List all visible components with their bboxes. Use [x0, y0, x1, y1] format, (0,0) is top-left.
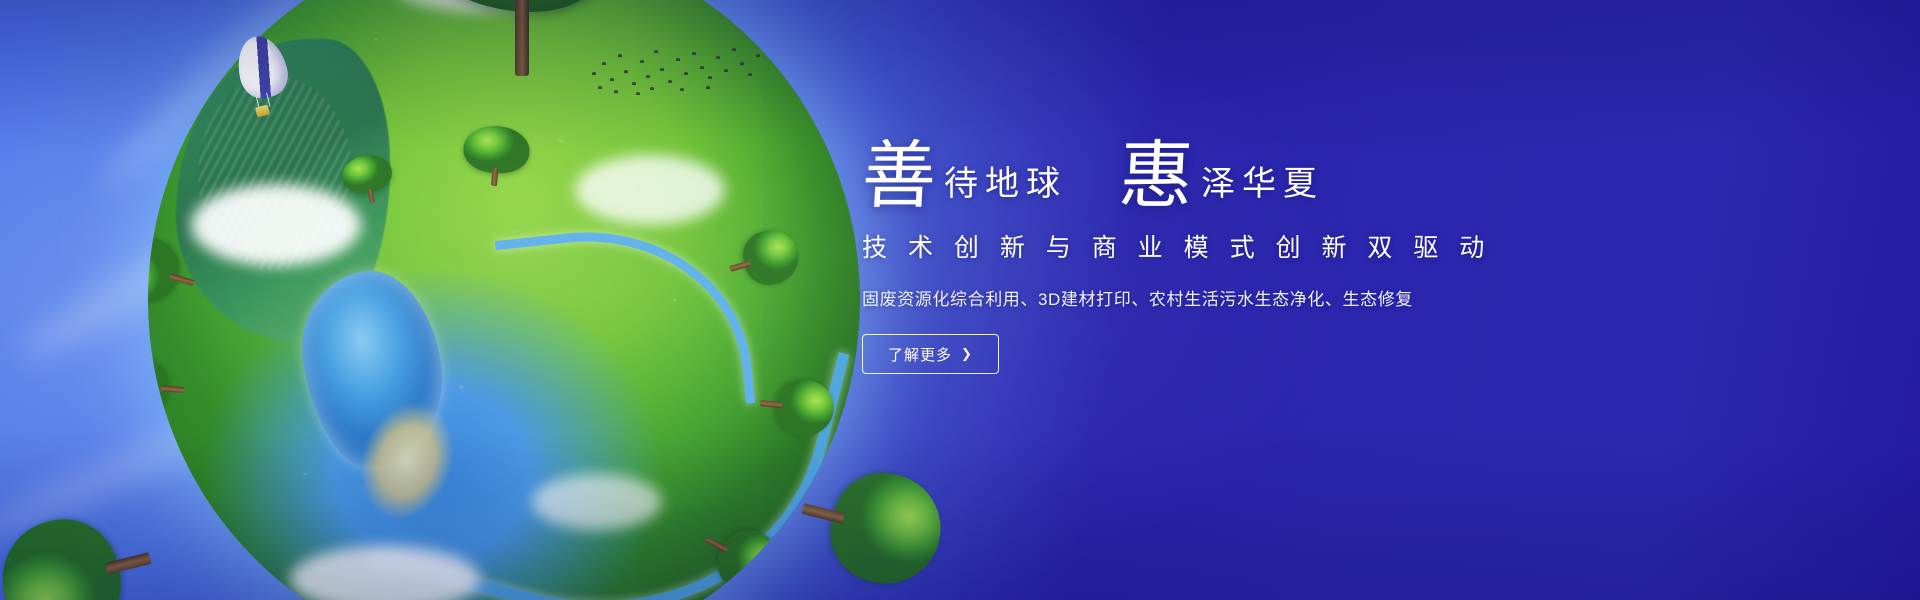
title-rest-chars-1: 待地球: [944, 167, 1067, 210]
title-phrase-1: 善 待地球: [862, 142, 1067, 210]
hero-description: 固废资源化综合利用、3D建材打印、农村生活污水生态净化、生态修复: [862, 285, 1502, 310]
hero-banner: 善 待地球 惠 泽华夏 技 术 创 新 与 商 业 模 式 创 新 双 驱 动 …: [0, 0, 1920, 600]
hero-content: 善 待地球 惠 泽华夏 技 术 创 新 与 商 业 模 式 创 新 双 驱 动 …: [862, 120, 1502, 374]
chevron-right-icon: ❯: [961, 346, 973, 362]
page-title: 善 待地球 惠 泽华夏: [862, 120, 1502, 210]
learn-more-label: 了解更多: [888, 344, 952, 365]
title-rest-chars-2: 泽华夏: [1201, 167, 1324, 210]
title-lead-char-2: 惠: [1117, 142, 1195, 210]
title-phrase-2: 惠 泽华夏: [1119, 142, 1324, 210]
title-lead-char-1: 善: [860, 142, 938, 210]
hero-subtitle: 技 术 创 新 与 商 业 模 式 创 新 双 驱 动: [862, 228, 1502, 264]
learn-more-button[interactable]: 了解更多 ❯: [862, 334, 999, 374]
